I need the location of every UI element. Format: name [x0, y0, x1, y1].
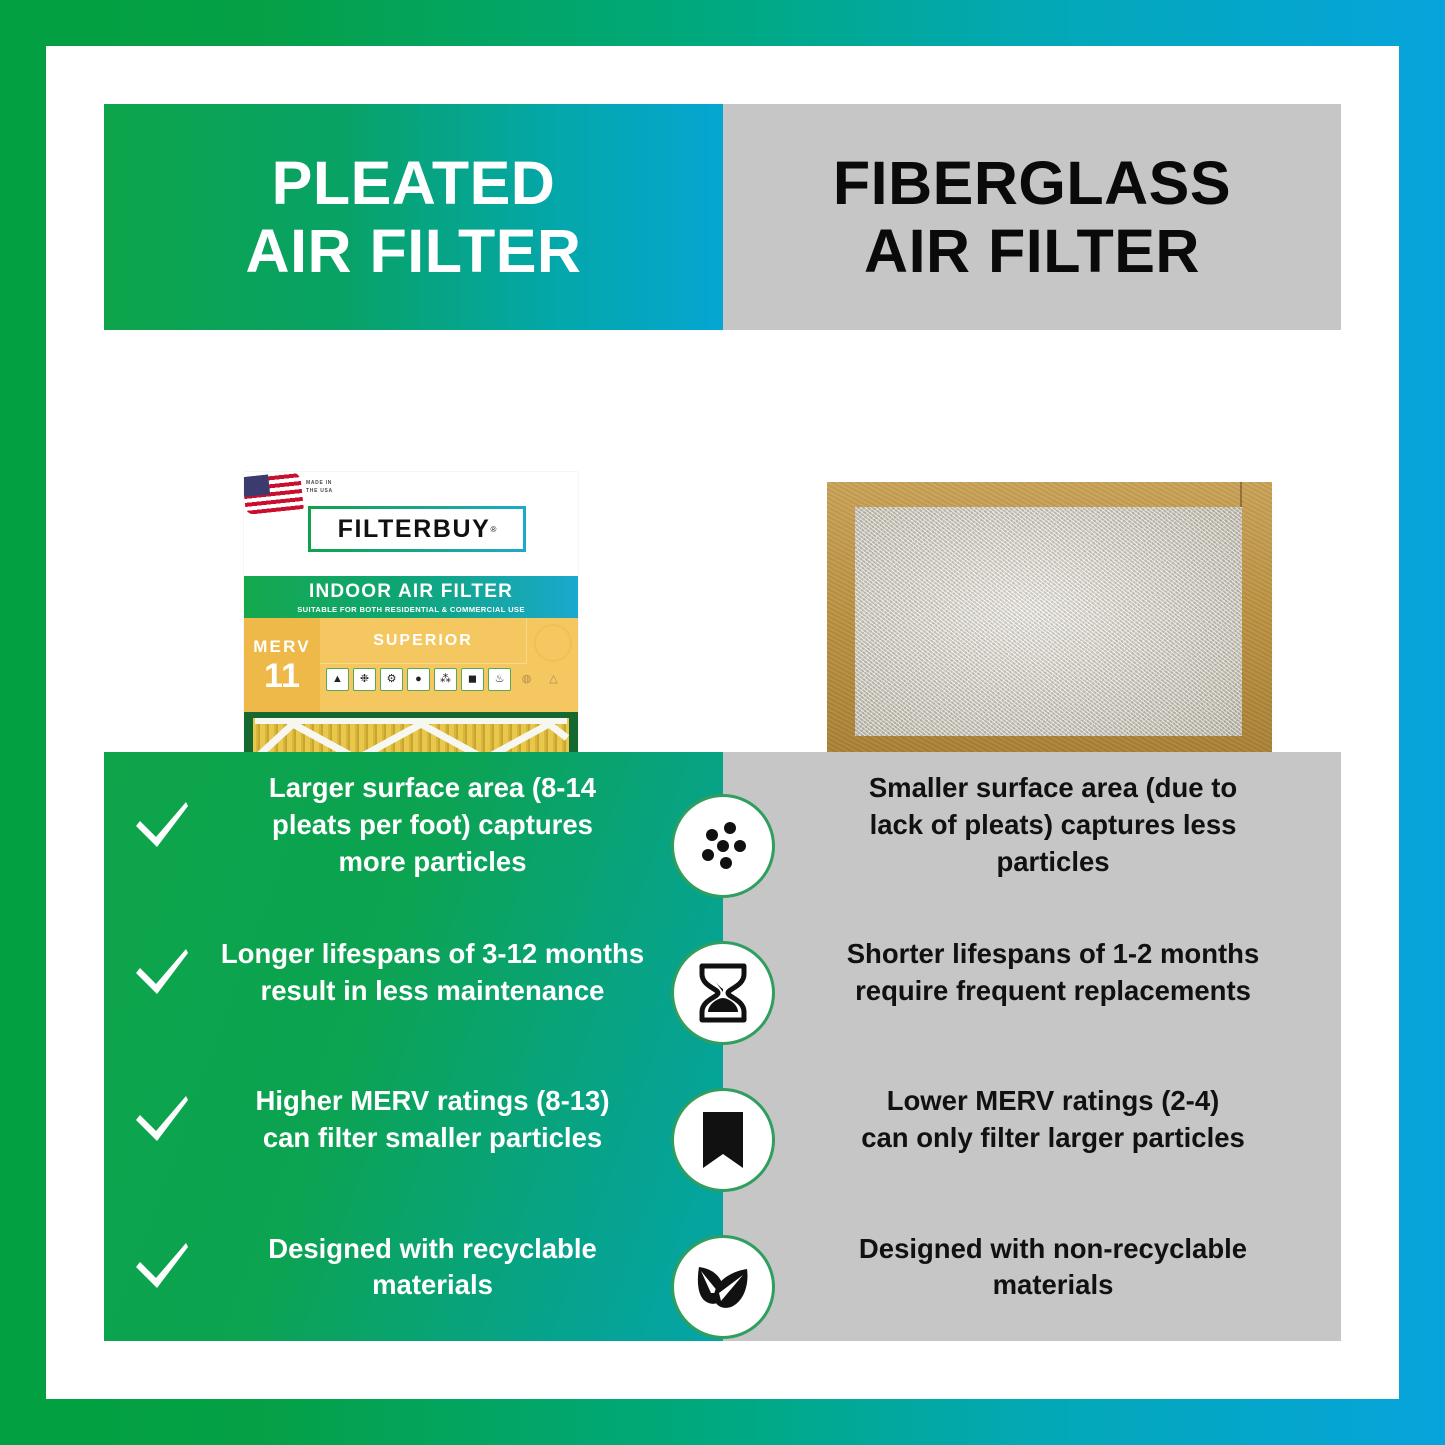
- checkmark-icon: [130, 1088, 194, 1152]
- drawback-row-1-text: Smaller surface area (due to lack of ple…: [785, 770, 1321, 881]
- ribbon-bookmark-icon: [671, 1088, 775, 1192]
- filterbuy-logo-text: FILTERBUY: [338, 515, 491, 544]
- benefit-row-4: Designed with recyclable materials: [104, 1194, 723, 1341]
- drawback-row-1: Smaller surface area (due to lack of ple…: [723, 752, 1341, 899]
- merv-label: MERV: [253, 637, 311, 657]
- benefit-row-1-text: Larger surface area (8-14 pleats per foo…: [200, 770, 665, 881]
- header-fiberglass: FIBERGLASS AIR FILTER: [723, 104, 1341, 330]
- fiberglass-drawbacks-column: Smaller surface area (due to lack of ple…: [723, 752, 1341, 1341]
- pet-dander-icon: ◼: [461, 668, 484, 691]
- merv-value: 11: [264, 659, 300, 693]
- smoke-icon: ♨: [488, 668, 511, 691]
- usa-flag-icon: [244, 472, 304, 515]
- content-area: PLEATED AIR FILTER FIBERGLASS AIR FILTER…: [104, 104, 1341, 1341]
- drawback-row-2: Shorter lifespans of 1-2 months require …: [723, 899, 1341, 1046]
- box-merv-section: MERV 11 SUPERIOR ▲ ❉ ⚙ ● ⁂ ◼ ♨ ◍ △: [244, 618, 578, 712]
- checkmark-icon: [130, 1235, 194, 1299]
- frame-seam: [1240, 482, 1242, 507]
- fiberglass-media: [855, 507, 1242, 736]
- particles-icon: ⁂: [434, 668, 457, 691]
- box-band-title: INDOOR AIR FILTER: [309, 581, 513, 603]
- drawback-row-4: Designed with non-recyclable materials: [723, 1194, 1341, 1341]
- tier-label: SUPERIOR: [320, 618, 527, 664]
- drawback-row-3: Lower MERV ratings (2-4) can only filter…: [723, 1047, 1341, 1194]
- registered-mark: ®: [490, 525, 496, 534]
- bacteria-icon: ⚙: [380, 668, 403, 691]
- pollen-icon: ❉: [353, 668, 376, 691]
- particles-dots-icon: [671, 794, 775, 898]
- drawback-row-2-text: Shorter lifespans of 1-2 months require …: [785, 936, 1321, 1010]
- header-band: PLEATED AIR FILTER FIBERGLASS AIR FILTER: [104, 104, 1341, 330]
- header-pleated: PLEATED AIR FILTER: [104, 104, 723, 330]
- box-band-subtitle: SUITABLE FOR BOTH RESIDENTIAL & COMMERCI…: [297, 605, 524, 614]
- benefit-row-4-text: Designed with recyclable materials: [200, 1231, 665, 1305]
- box-top-section: MADE IN THE USA FILTERBUY®: [244, 472, 578, 576]
- virus-icon-disabled: ◍: [515, 668, 538, 691]
- benefit-row-1: Larger surface area (8-14 pleats per foo…: [104, 752, 723, 899]
- filterbuy-logo: FILTERBUY®: [308, 506, 526, 552]
- benefit-row-3: Higher MERV ratings (8-13) can filter sm…: [104, 1047, 723, 1194]
- box-indoor-air-filter-band: INDOOR AIR FILTER SUITABLE FOR BOTH RESI…: [244, 576, 578, 618]
- header-pleated-title: PLEATED AIR FILTER: [246, 149, 582, 286]
- merv-badge: MERV 11: [244, 618, 320, 712]
- eco-leaves-icon: [671, 1235, 775, 1339]
- checkmark-icon: [130, 794, 194, 858]
- certification-seal-icon: [534, 624, 572, 662]
- benefit-row-3-text: Higher MERV ratings (8-13) can filter sm…: [200, 1083, 665, 1157]
- benefit-row-2-text: Longer lifespans of 3-12 months result i…: [200, 936, 665, 1010]
- smog-icon-disabled: △: [542, 668, 565, 691]
- mold-icon: ●: [407, 668, 430, 691]
- feature-icon-row: ▲ ❉ ⚙ ● ⁂ ◼ ♨ ◍ △: [326, 668, 565, 691]
- product-image-band: MADE IN THE USA FILTERBUY® INDOOR AIR FI…: [104, 330, 1341, 752]
- made-in-usa-label: MADE IN THE USA: [306, 480, 333, 495]
- drawback-row-4-text: Designed with non-recyclable materials: [785, 1231, 1321, 1305]
- benefit-row-2: Longer lifespans of 3-12 months result i…: [104, 899, 723, 1046]
- dust-icon: ▲: [326, 668, 349, 691]
- pleated-benefits-column: Larger surface area (8-14 pleats per foo…: [104, 752, 723, 1341]
- comparison-infographic: PLEATED AIR FILTER FIBERGLASS AIR FILTER…: [0, 0, 1445, 1445]
- hourglass-icon: [671, 941, 775, 1045]
- fiberglass-filter-product-image: [827, 482, 1272, 764]
- header-fiberglass-title: FIBERGLASS AIR FILTER: [833, 149, 1231, 286]
- drawback-row-3-text: Lower MERV ratings (2-4) can only filter…: [785, 1083, 1321, 1157]
- checkmark-icon: [130, 941, 194, 1005]
